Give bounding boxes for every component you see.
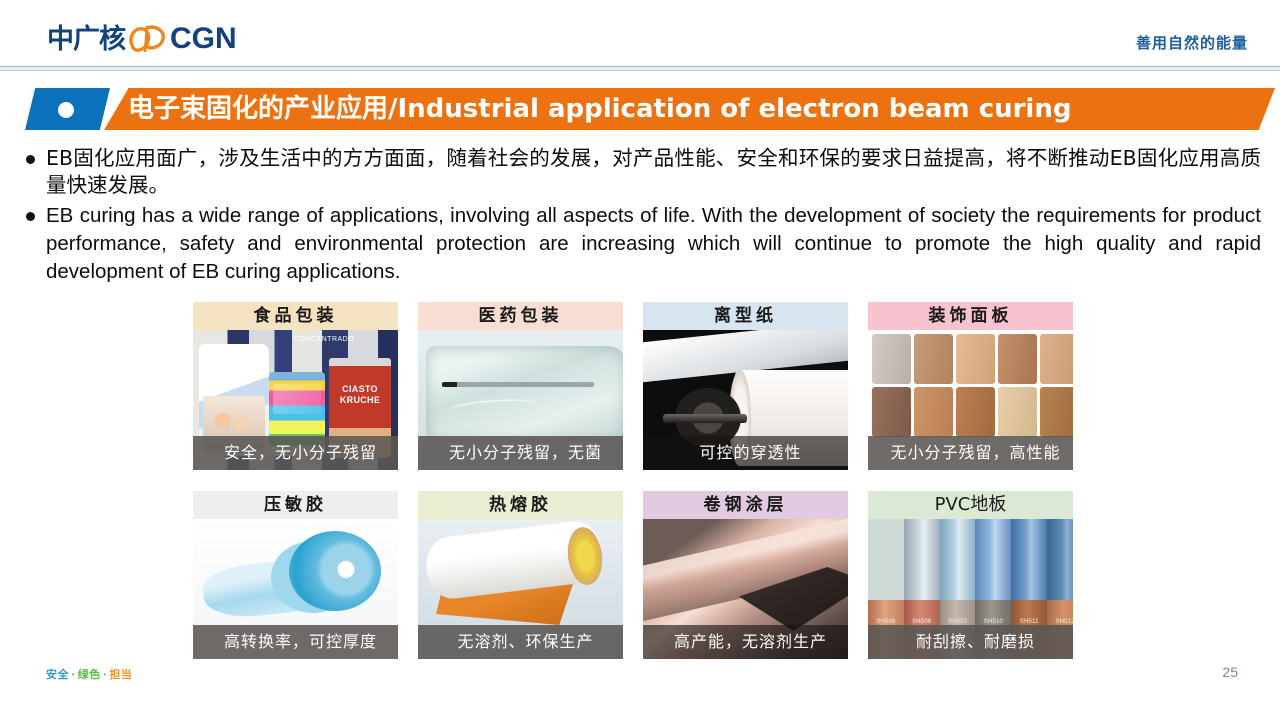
header-tagline: 善用自然的能量 xyxy=(1136,32,1248,53)
swatch-grid xyxy=(872,334,1073,437)
pvc-flooring-photo: SH506 SH508 SH502 SH xyxy=(868,519,1073,659)
medical-packaging-photo: 无小分子残留，无菌 xyxy=(418,330,623,470)
page-title: 电子束固化的产业应用/Industrial application of ele… xyxy=(128,88,1071,130)
hot-melt-adhesive-photo: 无溶剂、环保生产 xyxy=(418,519,623,659)
wood-swatch xyxy=(1040,334,1073,384)
page-number: 25 xyxy=(1222,664,1238,680)
footer-slogan: 安全·绿色·担当 xyxy=(46,666,132,682)
photo-tin-text: CIASTO KRUCHE xyxy=(329,384,391,406)
wood-swatch xyxy=(1040,387,1073,437)
list-item: EB curing has a wide range of applicatio… xyxy=(26,202,1261,286)
card-title: 食品包装 xyxy=(193,302,398,330)
bullet-text-english: EB curing has a wide range of applicatio… xyxy=(46,202,1261,286)
bullet-text-chinese: EB固化应用面广，涉及生活中的方方面面，随着社会的发展，对产品性能、安全和环保的… xyxy=(46,145,1261,199)
card-hot-melt-adhesive: 热熔胶 无溶剂、环保生产 xyxy=(418,491,623,659)
cgn-swirl-icon xyxy=(126,24,168,54)
card-food-packaging: 食品包装 CONCENTRADO CIASTO KRUCHE 安全，无小分子残留 xyxy=(193,302,398,470)
card-title: 离型纸 xyxy=(643,302,848,330)
wood-swatch xyxy=(914,387,953,437)
card-title: PVC地板 xyxy=(868,491,1073,519)
photo-banner-text: CONCENTRADO xyxy=(289,336,359,343)
card-pressure-sensitive-adhesive: 压敏胶 高转换率，可控厚度 xyxy=(193,491,398,659)
list-item: EB固化应用面广，涉及生活中的方方面面，随着社会的发展，对产品性能、安全和环保的… xyxy=(26,145,1261,199)
card-release-paper: 离型纸 可控的穿透性 xyxy=(643,302,848,470)
card-caption: 无小分子残留，无菌 xyxy=(418,436,623,470)
card-title: 医药包装 xyxy=(418,302,623,330)
card-title: 压敏胶 xyxy=(193,491,398,519)
wood-swatch xyxy=(998,387,1037,437)
bullet-list: EB固化应用面广，涉及生活中的方方面面，随着社会的发展，对产品性能、安全和环保的… xyxy=(26,145,1261,289)
pressure-sensitive-adhesive-photo: 高转换率，可控厚度 xyxy=(193,519,398,659)
wood-swatch xyxy=(956,334,995,384)
card-caption: 安全，无小分子残留 xyxy=(193,436,398,470)
card-caption: 高转换率，可控厚度 xyxy=(193,625,398,659)
decorative-panel-swatches: 无小分子残留，高性能 xyxy=(868,330,1073,470)
logo-chinese-text: 中广核 xyxy=(47,26,125,53)
card-row-1: 食品包装 CONCENTRADO CIASTO KRUCHE 安全，无小分子残留… xyxy=(193,302,1073,470)
wood-swatch xyxy=(872,334,911,384)
card-pvc-flooring: PVC地板 SH506 SH508 xyxy=(868,491,1073,659)
bullet-dot-icon xyxy=(26,155,35,164)
logo-english-text: CGN xyxy=(170,24,237,54)
wood-swatch xyxy=(956,387,995,437)
card-caption: 无溶剂、环保生产 xyxy=(418,625,623,659)
food-packaging-photo: CONCENTRADO CIASTO KRUCHE 安全，无小分子残留 xyxy=(193,330,398,470)
card-title: 热熔胶 xyxy=(418,491,623,519)
coil-coating-photo: 高产能，无溶剂生产 xyxy=(643,519,848,659)
slide-title-bar: 电子束固化的产业应用/Industrial application of ele… xyxy=(0,88,1280,130)
header-divider xyxy=(0,66,1280,71)
circle-marker-icon xyxy=(58,102,74,118)
card-caption: 可控的穿透性 xyxy=(643,436,848,470)
card-caption: 高产能，无溶剂生产 xyxy=(643,625,848,659)
card-caption: 无小分子残留，高性能 xyxy=(868,436,1073,470)
release-paper-photo: 可控的穿透性 xyxy=(643,330,848,470)
card-coil-coating: 卷钢涂层 高产能，无溶剂生产 xyxy=(643,491,848,659)
card-title: 装饰面板 xyxy=(868,302,1073,330)
bullet-dot-icon xyxy=(26,212,35,221)
cgn-logo: 中广核 CGN xyxy=(47,24,237,54)
application-card-grid: 食品包装 CONCENTRADO CIASTO KRUCHE 安全，无小分子残留… xyxy=(193,302,1073,680)
card-title: 卷钢涂层 xyxy=(643,491,848,519)
card-caption: 耐刮擦、耐磨损 xyxy=(868,625,1073,659)
card-row-2: 压敏胶 高转换率，可控厚度 热熔胶 无溶剂、环保生产 xyxy=(193,491,1073,659)
slogan-part-responsibility: 担当 xyxy=(109,668,132,681)
wood-swatch xyxy=(914,334,953,384)
slogan-separator: · xyxy=(69,668,78,681)
wood-swatch xyxy=(872,387,911,437)
card-decorative-panel: 装饰面板 无小分子残留，高性能 xyxy=(868,302,1073,470)
card-medical-packaging: 医药包装 无小分子残留，无菌 xyxy=(418,302,623,470)
wood-swatch xyxy=(998,334,1037,384)
slogan-part-safety: 安全 xyxy=(46,668,69,681)
slide-header: 中广核 CGN 善用自然的能量 xyxy=(0,0,1280,68)
slogan-part-green: 绿色 xyxy=(78,668,101,681)
